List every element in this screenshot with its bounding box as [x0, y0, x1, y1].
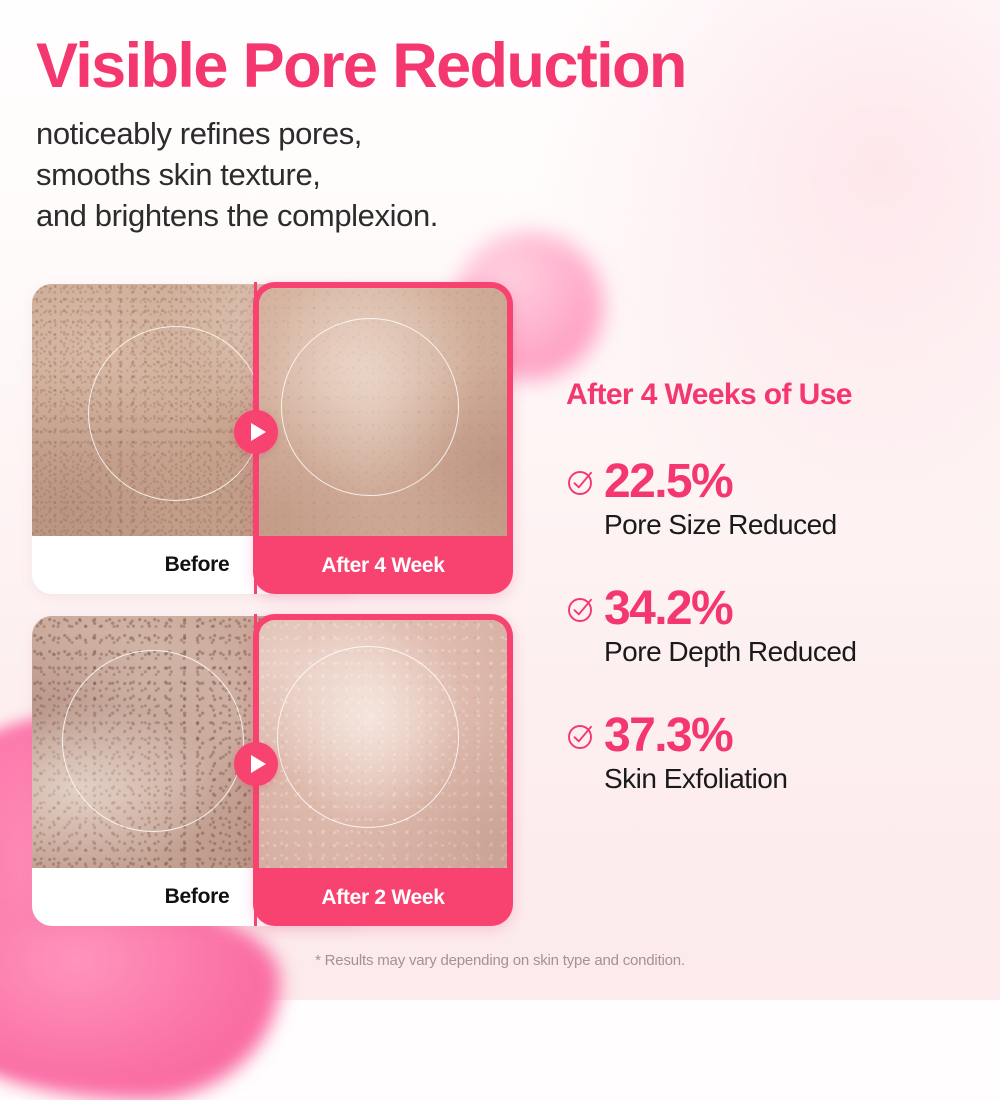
- stat-value: 34.2%: [604, 585, 986, 634]
- subtitle-line-2: smooths skin texture,: [36, 154, 438, 195]
- subtitle-line-1: noticeably refines pores,: [36, 113, 438, 154]
- check-circle-icon: [566, 594, 596, 624]
- skin-image-after: [259, 620, 507, 868]
- check-circle-icon: [566, 721, 596, 751]
- skin-sheen-layer: [259, 288, 507, 536]
- after-label: After 2 Week: [253, 870, 513, 926]
- stat-value: 22.5%: [604, 458, 986, 507]
- page-subtitle: noticeably refines pores, smooths skin t…: [36, 113, 438, 237]
- play-triangle: [251, 755, 266, 773]
- stats-panel: After 4 Weeks of Use 22.5% Pore Size Red…: [566, 378, 986, 795]
- stat-row: 37.3% Skin Exfoliation: [566, 712, 986, 795]
- stat-label: Pore Size Reduced: [604, 509, 986, 541]
- stats-title: After 4 Weeks of Use: [566, 378, 986, 412]
- after-panel: After 2 Week: [253, 614, 513, 926]
- subtitle-line-3: and brightens the complexion.: [36, 195, 438, 236]
- after-photo: [259, 620, 507, 868]
- stat-value: 37.3%: [604, 712, 986, 761]
- promo-page: Visible Pore Reduction noticeably refine…: [0, 0, 1000, 1000]
- footnote: * Results may vary depending on skin typ…: [0, 952, 1000, 969]
- skin-sheen-layer: [259, 620, 507, 868]
- after-photo: [259, 288, 507, 536]
- after-label: After 4 Week: [253, 538, 513, 594]
- skin-image-after: [259, 288, 507, 536]
- check-circle-icon: [566, 467, 596, 497]
- play-triangle: [251, 423, 266, 441]
- stat-label: Pore Depth Reduced: [604, 636, 986, 668]
- page-title: Visible Pore Reduction: [36, 34, 686, 98]
- stat-label: Skin Exfoliation: [604, 763, 986, 795]
- play-icon[interactable]: [234, 742, 278, 786]
- after-panel: After 4 Week: [253, 282, 513, 594]
- stat-row: 22.5% Pore Size Reduced: [566, 458, 986, 541]
- play-icon[interactable]: [234, 410, 278, 454]
- stat-row: 34.2% Pore Depth Reduced: [566, 585, 986, 668]
